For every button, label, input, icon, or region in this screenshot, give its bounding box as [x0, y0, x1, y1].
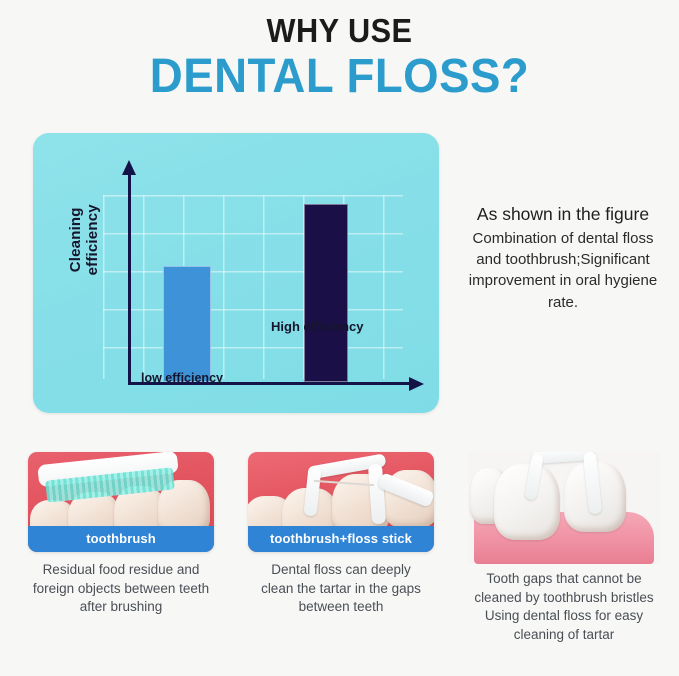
panel-image-toothbrush: toothbrush — [28, 452, 214, 552]
page-title: WHY USE DENTAL FLOSS? — [0, 0, 679, 102]
caption-line2: cleaned by toothbrush bristles — [474, 590, 653, 605]
chart-gridlines — [103, 195, 403, 379]
caption-line1: Tooth gaps that cannot be — [486, 571, 641, 586]
panel-floss-stick: toothbrush+floss stick Dental floss can … — [248, 452, 434, 617]
panel-image-tooth-gap — [468, 452, 660, 564]
panel-badge: toothbrush+floss stick — [248, 526, 434, 552]
y-axis-arrow-icon — [122, 160, 136, 175]
explanation-text-block: As shown in the figure Combination of de… — [452, 203, 674, 313]
caption-line4: cleaning of tartar — [514, 627, 615, 642]
explanation-body-line1: Combination of dental floss — [473, 230, 654, 247]
explanation-body-line2: and toothbrush;Significant — [476, 251, 649, 268]
caption-line2: foreign objects between teeth — [33, 581, 209, 596]
caption-line3: between teeth — [299, 599, 384, 614]
efficiency-bar-chart: Cleaning efficiency low efficiency High … — [33, 133, 439, 413]
bar-toothbrush-floss — [304, 204, 348, 382]
panel-caption: Tooth gaps that cannot be cleaned by too… — [468, 570, 660, 645]
bar-annotation-low: low efficiency — [141, 371, 223, 385]
chart-y-axis-label: Cleaning efficiency — [68, 180, 102, 300]
caption-line2: clean the tartar in the gaps — [261, 581, 421, 596]
chart-y-axis — [128, 173, 131, 385]
panel-row: toothbrush Residual food residue and for… — [0, 452, 679, 676]
caption-line1: Residual food residue and — [43, 562, 200, 577]
bar-toothbrush — [163, 266, 211, 382]
explanation-body: Combination of dental floss and toothbru… — [452, 228, 674, 313]
bar-annotation-high: High efficiency — [271, 319, 363, 334]
title-line-primary: WHY USE — [24, 12, 655, 50]
y-axis-label-line2: efficiency — [84, 204, 101, 275]
y-axis-label-line1: Cleaning — [67, 207, 84, 272]
panel-badge: toothbrush — [28, 526, 214, 552]
x-axis-arrow-icon — [409, 377, 424, 391]
panel-image-floss-stick: toothbrush+floss stick — [248, 452, 434, 552]
infographic-page: WHY USE DENTAL FLOSS? Cleaning efficienc… — [0, 0, 679, 676]
caption-line3: Using dental floss for easy — [485, 608, 643, 623]
explanation-body-line3: improvement in oral hygiene — [469, 272, 657, 289]
caption-line3: after brushing — [80, 599, 163, 614]
explanation-heading: As shown in the figure — [452, 203, 674, 227]
title-line-accent: DENTAL FLOSS? — [17, 52, 662, 102]
panel-toothbrush: toothbrush Residual food residue and for… — [28, 452, 214, 617]
explanation-body-line4: rate. — [548, 294, 578, 311]
tooth-shape — [494, 464, 560, 540]
panel-caption: Dental floss can deeply clean the tartar… — [248, 561, 434, 617]
panel-caption: Residual food residue and foreign object… — [28, 561, 214, 617]
panel-tooth-gap: Tooth gaps that cannot be cleaned by too… — [468, 452, 660, 645]
caption-line1: Dental floss can deeply — [271, 562, 411, 577]
